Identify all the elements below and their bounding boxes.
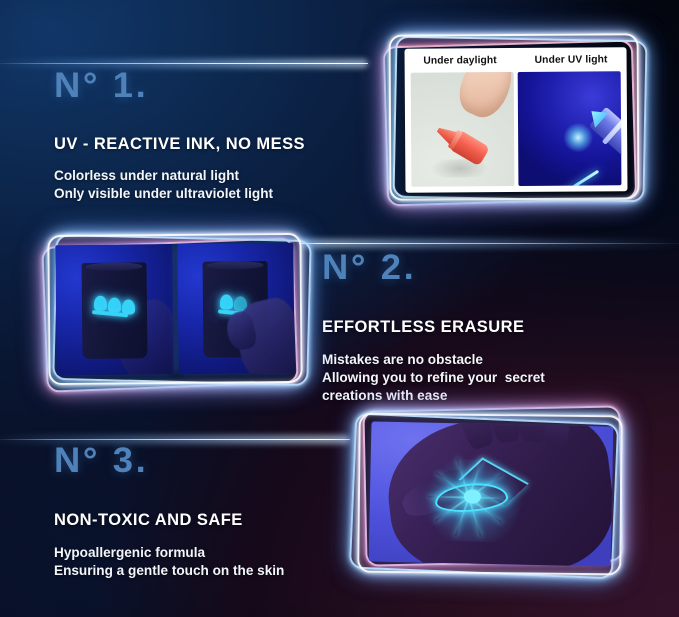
mug-photo-pair xyxy=(55,243,294,375)
feature-text-block-3: N° 3. NON-TOXIC AND SAFE Hypoallergenic … xyxy=(54,443,284,580)
comparison-sheet: Under daylight Under UV light xyxy=(405,47,628,193)
feature-subtext-1: Colorless under natural light Only visib… xyxy=(54,167,305,203)
feature-headline-3: NON-TOXIC AND SAFE xyxy=(54,511,284,530)
comparison-labels: Under daylight Under UV light xyxy=(405,47,627,73)
feature-headline-2: EFFORTLESS ERASURE xyxy=(322,318,545,337)
feature-text-block-2: N° 2. EFFORTLESS ERASURE Mistakes are no… xyxy=(322,250,545,406)
label-under-daylight: Under daylight xyxy=(405,55,516,67)
feature-subtext-2: Mistakes are no obstacle Allowing you to… xyxy=(322,351,545,406)
infographic-stage: N° 1. UV - REACTIVE INK, NO MESS Colorle… xyxy=(0,0,679,617)
photo-mug-marked xyxy=(55,244,173,375)
feature-image-card-3 xyxy=(348,406,630,582)
feature-image-card-1: Under daylight Under UV light xyxy=(383,32,645,210)
photo-hand-uv-tattoo xyxy=(369,421,614,566)
uv-ink-trail xyxy=(535,170,599,186)
feature-text-block-1: N° 1. UV - REACTIVE INK, NO MESS Colorle… xyxy=(54,68,305,203)
photo-marker-uv xyxy=(518,71,622,186)
feature-headline-1: UV - REACTIVE INK, NO MESS xyxy=(54,135,305,154)
feature-image-card-2 xyxy=(40,234,308,390)
feature-subtext-3: Hypoallergenic formula Ensuring a gentle… xyxy=(54,544,284,580)
feature-number-1: N° 1. xyxy=(54,68,315,103)
comparison-photos xyxy=(405,71,628,193)
feature-number-3: N° 3. xyxy=(54,443,294,478)
photo-mug-erasing xyxy=(177,243,295,374)
uv-pen-shape xyxy=(572,89,622,169)
photo-marker-daylight xyxy=(411,72,515,187)
feature-number-2: N° 2. xyxy=(322,250,554,285)
finger-shape xyxy=(451,72,514,125)
label-under-uv-light: Under UV light xyxy=(516,54,627,66)
mug-shape xyxy=(81,262,147,359)
